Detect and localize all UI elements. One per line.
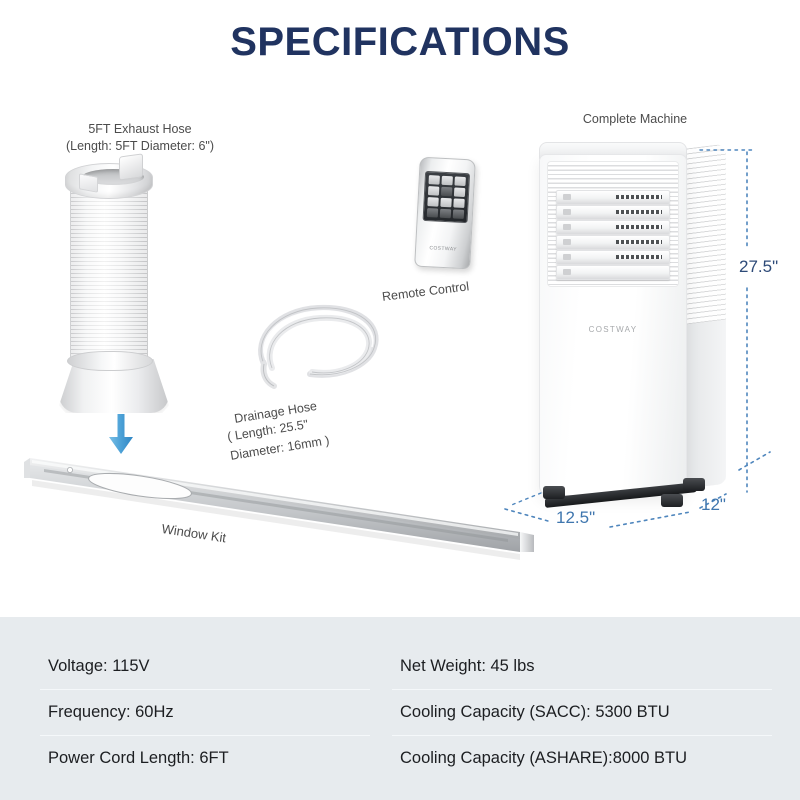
ac-louver-nub xyxy=(563,254,571,260)
ac-louver xyxy=(556,220,670,235)
ac-caster xyxy=(661,494,683,507)
complete-machine-label: Complete Machine xyxy=(545,110,725,128)
ac-caster xyxy=(543,486,565,499)
specifications-panel: Voltage: 115V Frequency: 60Hz Power Cord… xyxy=(0,617,800,800)
remote-key xyxy=(440,198,452,208)
remote-key xyxy=(427,197,439,207)
ac-louver xyxy=(556,205,670,220)
remote-key xyxy=(453,198,465,208)
ac-louver-nub xyxy=(563,194,571,200)
specifications-page: SPECIFICATIONS 5FT Exhaust Hose (Length:… xyxy=(0,0,800,800)
hose-ring xyxy=(67,351,153,371)
exhaust-hose-label-line1: 5FT Exhaust Hose xyxy=(30,120,250,138)
ac-louver-nub xyxy=(563,224,571,230)
ac-louver-slit xyxy=(616,225,662,229)
ac-louver-nub xyxy=(563,209,571,215)
ac-louver-slit xyxy=(616,210,662,214)
ac-louver-nub xyxy=(563,269,571,275)
exhaust-hose-image xyxy=(57,163,175,413)
remote-key xyxy=(428,175,440,185)
hose-corrugated-body xyxy=(70,189,148,357)
air-conditioner-image: COSTWAY xyxy=(533,142,726,504)
ac-louver-stack xyxy=(556,190,668,278)
dimension-height-label: 27.5" xyxy=(739,257,778,277)
remote-key xyxy=(428,186,440,196)
ac-louver-slit xyxy=(616,195,662,199)
remote-key xyxy=(441,187,453,197)
remote-keypad xyxy=(423,171,471,223)
specifications-grid: Voltage: 115V Frequency: 60Hz Power Cord… xyxy=(0,617,800,800)
ac-brand-label: COSTWAY xyxy=(540,325,686,334)
spec-row-net-weight: Net Weight: 45 lbs xyxy=(400,643,535,689)
ac-caster xyxy=(683,478,705,491)
remote-key xyxy=(452,209,464,219)
spec-row-cooling-capacity-ashare: Cooling Capacity (ASHARE):8000 BTU xyxy=(400,735,687,781)
spec-row-cooling-capacity-sacc: Cooling Capacity (SACC): 5300 BTU xyxy=(400,689,670,735)
hose-clip-left xyxy=(79,173,98,192)
ac-louver xyxy=(556,265,670,280)
drainage-hose-image xyxy=(248,298,388,393)
hose-clip-right xyxy=(119,153,143,180)
remote-key xyxy=(454,176,466,186)
remote-key xyxy=(454,187,466,197)
spec-row-power-cord-length: Power Cord Length: 6FT xyxy=(48,735,229,781)
ac-louver xyxy=(556,235,670,250)
ac-louver xyxy=(556,190,670,205)
dimension-width-label: 12" xyxy=(701,495,726,515)
remote-key xyxy=(441,176,453,186)
remote-key xyxy=(427,208,439,218)
ac-louver-slit xyxy=(616,255,662,259)
remote-control-label: Remote Control xyxy=(381,277,470,306)
ac-front-panel: COSTWAY xyxy=(539,154,687,496)
remote-key-grid xyxy=(427,175,466,219)
ac-vent-panel xyxy=(547,161,679,287)
ac-louver xyxy=(556,250,670,265)
exhaust-hose-label-line2: (Length: 5FT Diameter: 6") xyxy=(30,137,250,155)
remote-key xyxy=(440,208,452,218)
spec-row-voltage: Voltage: 115V xyxy=(48,643,150,689)
remote-control-image: COSTWAY xyxy=(414,157,476,270)
spec-row-frequency: Frequency: 60Hz xyxy=(48,689,174,735)
dimension-depth-label: 12.5" xyxy=(556,508,595,528)
ac-louver-slit xyxy=(616,240,662,244)
window-kit-image xyxy=(22,440,542,570)
page-title: SPECIFICATIONS xyxy=(0,20,800,65)
ac-louver-nub xyxy=(563,239,571,245)
